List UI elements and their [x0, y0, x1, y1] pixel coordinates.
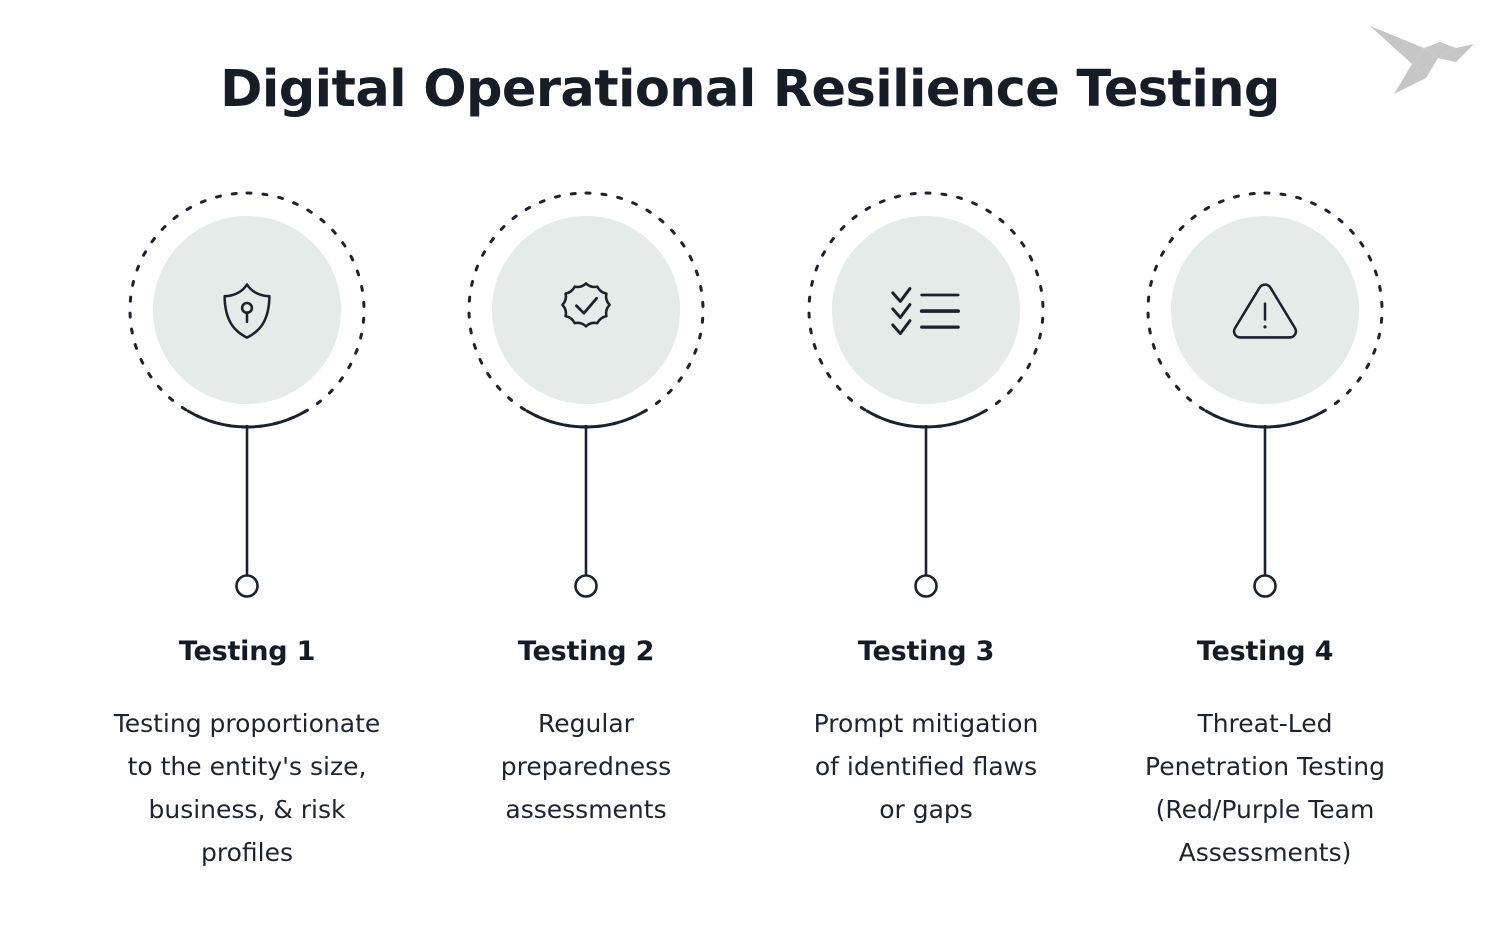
step-card-4: Testing 4 Threat-Led Penetration Testing…: [1105, 0, 1425, 940]
step-card-1: Testing 1 Testing proportionate to the e…: [87, 0, 407, 940]
step-body-2: Regular preparedness assessments: [426, 702, 746, 831]
connector-end-dot: [237, 576, 258, 597]
step-heading-1: Testing 1: [87, 636, 407, 668]
checklist-icon: [801, 185, 1051, 435]
step-connector-2: [570, 425, 602, 605]
step-heading-3: Testing 3: [766, 636, 1086, 668]
connector-end-dot: [576, 576, 597, 597]
step-node-4: [1140, 185, 1390, 435]
badge-check-icon: [461, 185, 711, 435]
connector-end-dot: [916, 576, 937, 597]
step-heading-4: Testing 4: [1105, 636, 1425, 668]
step-node-2: [461, 185, 711, 435]
connector-end-dot: [1255, 576, 1276, 597]
step-connector-1: [231, 425, 263, 605]
step-card-2: Testing 2 Regular preparedness assessmen…: [426, 0, 746, 940]
infographic-canvas: Digital Operational Resilience Testing: [0, 0, 1500, 940]
warning-triangle-icon: [1140, 185, 1390, 435]
step-heading-2: Testing 2: [426, 636, 746, 668]
step-body-1: Testing proportionate to the entity's si…: [87, 702, 407, 874]
step-body-4: Threat-Led Penetration Testing (Red/Purp…: [1105, 702, 1425, 874]
step-connector-4: [1249, 425, 1281, 605]
step-connector-3: [910, 425, 942, 605]
step-node-1: [122, 185, 372, 435]
steps-container: Testing 1 Testing proportionate to the e…: [0, 0, 1500, 940]
step-card-3: Testing 3 Prompt mitigation of identifie…: [766, 0, 1086, 940]
shield-keyhole-icon: [122, 185, 372, 435]
step-body-3: Prompt mitigation of identified flaws or…: [766, 702, 1086, 831]
step-node-3: [801, 185, 1051, 435]
